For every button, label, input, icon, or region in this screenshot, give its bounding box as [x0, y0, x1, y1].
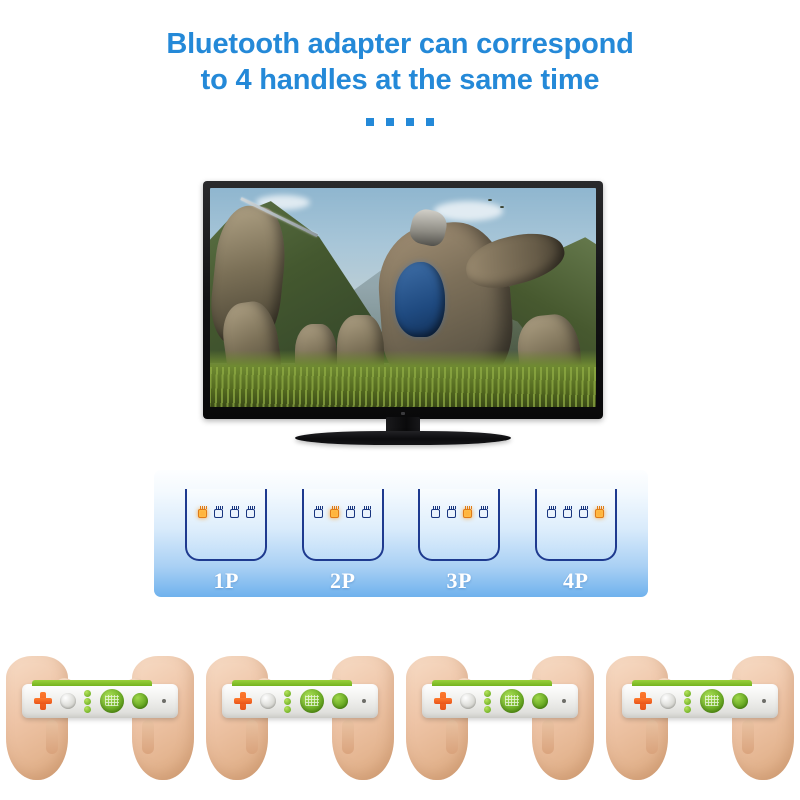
fingers [246, 720, 258, 754]
right-hand [132, 656, 194, 780]
adapter-panel: 1P 2P [154, 470, 648, 597]
adapter-body [302, 489, 384, 561]
adapter-label: 3P [411, 568, 507, 594]
small-button-1[interactable] [684, 690, 691, 697]
fingers [46, 720, 58, 754]
headline-line-1: Bluetooth adapter can correspond [166, 28, 633, 60]
sensor-port-icon [362, 699, 366, 703]
small-button-2[interactable] [484, 698, 491, 705]
small-button-1[interactable] [484, 690, 491, 697]
led-indicator-1 [314, 509, 323, 518]
dpad-icon[interactable] [634, 692, 652, 710]
fingers [142, 720, 154, 754]
product-infographic-page: Bluetooth adapter can correspond to 4 ha… [0, 0, 800, 800]
page-title: Bluetooth adapter can correspond to 4 ha… [0, 26, 800, 98]
adapter-label: 4P [528, 568, 624, 594]
player-4-controller[interactable] [600, 648, 800, 800]
dpad-icon[interactable] [434, 692, 452, 710]
led-indicator-3 [346, 509, 355, 518]
adapter-3p[interactable]: 3P [411, 470, 507, 594]
fingers [542, 720, 554, 754]
small-button-2[interactable] [284, 698, 291, 705]
decorative-dots [0, 118, 800, 126]
adapter-body [535, 489, 617, 561]
right-hand [332, 656, 394, 780]
led-indicator-2 [330, 509, 339, 518]
left-hand [206, 656, 268, 780]
dot-icon [386, 118, 394, 126]
led-indicator-4 [362, 509, 371, 518]
troll-armor [395, 262, 445, 336]
led-indicator-2 [447, 509, 456, 518]
left-hand [6, 656, 68, 780]
led-row [537, 509, 615, 518]
green-button[interactable] [332, 693, 348, 709]
bird-icon [500, 206, 504, 208]
game-remote[interactable] [222, 684, 378, 718]
speaker-grille-icon [300, 689, 324, 713]
led-indicator-4 [246, 509, 255, 518]
remote-top-strip [232, 680, 352, 686]
game-remote[interactable] [22, 684, 178, 718]
small-button-3[interactable] [84, 706, 91, 713]
green-button[interactable] [132, 693, 148, 709]
dot-icon [426, 118, 434, 126]
right-hand [532, 656, 594, 780]
right-hand [732, 656, 794, 780]
television [203, 181, 603, 443]
sensor-port-icon [562, 699, 566, 703]
dpad-icon[interactable] [234, 692, 252, 710]
adapter-4p[interactable]: 4P [528, 470, 624, 594]
led-indicator-1 [198, 509, 207, 518]
adapter-body [418, 489, 500, 561]
remote-top-strip [632, 680, 752, 686]
led-row [187, 509, 265, 518]
remote-top-strip [432, 680, 552, 686]
remote-top-strip [32, 680, 152, 686]
fingers [742, 720, 754, 754]
tv-screen [210, 188, 596, 407]
player-1-controller[interactable] [0, 648, 200, 800]
sensor-port-icon [162, 699, 166, 703]
led-row [420, 509, 498, 518]
led-indicator-4 [595, 509, 604, 518]
fingers [342, 720, 354, 754]
led-indicator-4 [479, 509, 488, 518]
small-button-1[interactable] [84, 690, 91, 697]
green-button[interactable] [532, 693, 548, 709]
small-button-1[interactable] [284, 690, 291, 697]
speaker-grille-icon [700, 689, 724, 713]
a-button[interactable] [60, 693, 76, 709]
a-button[interactable] [260, 693, 276, 709]
a-button[interactable] [460, 693, 476, 709]
led-indicator-2 [214, 509, 223, 518]
tv-brand-logo [401, 412, 405, 415]
speaker-grille-icon [500, 689, 524, 713]
fingers [446, 720, 458, 754]
left-hand [406, 656, 468, 780]
small-button-2[interactable] [684, 698, 691, 705]
headline-line-2: to 4 handles at the same time [0, 62, 800, 98]
small-button-3[interactable] [284, 706, 291, 713]
left-hand [606, 656, 668, 780]
led-indicator-3 [230, 509, 239, 518]
foreground-grass [210, 350, 596, 407]
tv-stand-base [295, 431, 511, 445]
fingers [646, 720, 658, 754]
adapter-2p[interactable]: 2P [295, 470, 391, 594]
led-indicator-3 [463, 509, 472, 518]
tv-bezel [203, 181, 603, 419]
led-row [304, 509, 382, 518]
adapter-list: 1P 2P [154, 470, 648, 597]
led-indicator-1 [547, 509, 556, 518]
adapter-body [185, 489, 267, 561]
adapter-label: 1P [178, 568, 274, 594]
small-button-3[interactable] [484, 706, 491, 713]
dot-icon [366, 118, 374, 126]
dpad-icon[interactable] [34, 692, 52, 710]
led-indicator-3 [579, 509, 588, 518]
bird-icon [488, 199, 492, 201]
player-2-controller[interactable] [200, 648, 400, 800]
green-button[interactable] [732, 693, 748, 709]
adapter-label: 2P [295, 568, 391, 594]
player-3-controller[interactable] [400, 648, 600, 800]
led-indicator-1 [431, 509, 440, 518]
speaker-grille-icon [100, 689, 124, 713]
controller-row [0, 648, 800, 800]
dot-icon [406, 118, 414, 126]
adapter-1p[interactable]: 1P [178, 470, 274, 594]
game-remote[interactable] [622, 684, 778, 718]
led-indicator-2 [563, 509, 572, 518]
small-button-3[interactable] [684, 706, 691, 713]
a-button[interactable] [660, 693, 676, 709]
small-button-2[interactable] [84, 698, 91, 705]
sensor-port-icon [762, 699, 766, 703]
game-remote[interactable] [422, 684, 578, 718]
